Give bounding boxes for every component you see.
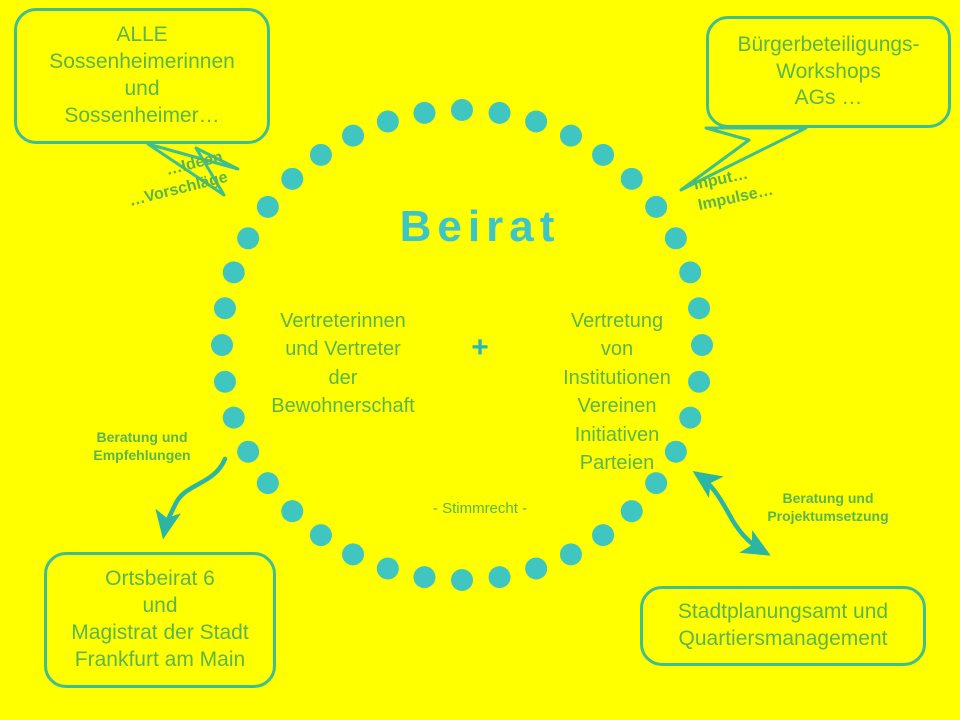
ring-dot bbox=[560, 125, 582, 147]
callout-line: Workshops bbox=[776, 59, 881, 86]
ring-dot bbox=[451, 569, 473, 591]
ring-dot bbox=[525, 111, 547, 133]
ring-dot bbox=[489, 102, 511, 124]
ring-dot bbox=[342, 543, 364, 565]
column-institutions-representation: Vertretung von Institutionen Vereinen In… bbox=[526, 307, 708, 477]
label-beratung-empfehlungen: Beratung und Empfehlungen bbox=[80, 428, 204, 464]
ring-dot bbox=[413, 566, 435, 588]
callout-line: Sossenheimerinnen bbox=[49, 49, 235, 76]
ring-dot bbox=[489, 566, 511, 588]
ring-dot bbox=[560, 543, 582, 565]
callout-line: Sossenheimer… bbox=[64, 103, 219, 130]
column-line: der bbox=[252, 364, 434, 392]
ring-dot bbox=[214, 297, 236, 319]
ring-dot bbox=[413, 102, 435, 124]
callout-line: Ortsbeirat 6 bbox=[105, 566, 215, 593]
plus-icon: + bbox=[460, 333, 500, 363]
column-line: Vertreterinnen bbox=[252, 307, 434, 335]
callout-line: Quartiersmanagement bbox=[679, 626, 888, 653]
ring-dot bbox=[451, 99, 473, 121]
callout-stadtplanungsamt-quartiersmanagement[interactable]: Stadtplanungsamt und Quartiersmanagement bbox=[640, 586, 926, 666]
column-line: Initiativen bbox=[526, 421, 708, 449]
callout-line: Stadtplanungsamt und bbox=[678, 599, 888, 626]
flow-label-line: Empfehlungen bbox=[80, 446, 204, 464]
column-line: Bewohnerschaft bbox=[252, 392, 434, 420]
callout-line: und bbox=[124, 76, 159, 103]
stimmrecht-note: - Stimmrecht - bbox=[0, 500, 960, 517]
arrow-beratung-empfehlungen bbox=[164, 459, 225, 534]
column-line: Parteien bbox=[526, 449, 708, 477]
ring-dot bbox=[223, 261, 245, 283]
ring-dot bbox=[223, 407, 245, 429]
ring-dot bbox=[592, 524, 614, 546]
column-line: von bbox=[526, 335, 708, 363]
column-residents-representatives: Vertreterinnen und Vertreter der Bewohne… bbox=[252, 307, 434, 421]
column-line: Vertretung bbox=[526, 307, 708, 335]
callout-line: und bbox=[142, 593, 177, 620]
callout-line: Bürgerbeteiligungs- bbox=[737, 32, 919, 59]
ring-dot bbox=[525, 558, 547, 580]
column-line: Vereinen bbox=[526, 392, 708, 420]
ring-dot bbox=[211, 334, 233, 356]
callout-line: Frankfurt am Main bbox=[75, 647, 245, 674]
callout-line: Magistrat der Stadt bbox=[71, 620, 248, 647]
ring-dot bbox=[310, 144, 332, 166]
column-line: Institutionen bbox=[526, 364, 708, 392]
ring-dot bbox=[377, 558, 399, 580]
diagram-canvas: ALLE Sossenheimerinnen und Sossenheimer…… bbox=[0, 0, 960, 720]
callout-ortsbeirat-magistrat[interactable]: Ortsbeirat 6 und Magistrat der Stadt Fra… bbox=[44, 552, 276, 688]
beirat-composition: Vertreterinnen und Vertreter der Bewohne… bbox=[252, 307, 708, 477]
ring-dot bbox=[310, 524, 332, 546]
callout-participation-workshops[interactable]: Bürgerbeteiligungs- Workshops AGs … bbox=[706, 16, 951, 128]
ring-dot bbox=[621, 168, 643, 190]
ring-dot bbox=[377, 111, 399, 133]
callout-line: AGs … bbox=[795, 85, 863, 112]
callout-all-residents[interactable]: ALLE Sossenheimerinnen und Sossenheimer… bbox=[14, 8, 270, 144]
column-line: und Vertreter bbox=[252, 335, 434, 363]
flow-label-line: Beratung und bbox=[80, 428, 204, 446]
ring-dot bbox=[679, 261, 701, 283]
beirat-title: Beirat bbox=[0, 202, 960, 252]
ring-dot bbox=[592, 144, 614, 166]
callout-line: ALLE bbox=[116, 22, 167, 49]
ring-dot bbox=[342, 125, 364, 147]
ring-dot bbox=[214, 371, 236, 393]
ring-dot bbox=[281, 168, 303, 190]
